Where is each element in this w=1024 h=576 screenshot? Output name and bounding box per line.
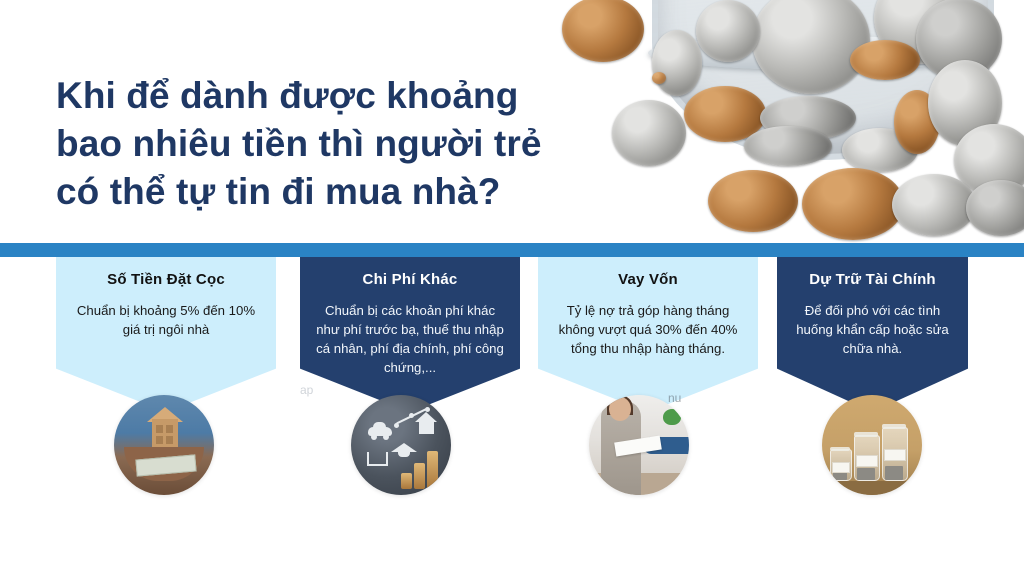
coin: [696, 0, 760, 62]
card-description: Để đối phó với các tình huống khẩn cấp h…: [791, 301, 954, 358]
coin: [562, 0, 644, 62]
coin: [966, 180, 1024, 236]
coin: [612, 100, 686, 166]
coin: [652, 30, 702, 96]
card-so-tien-dat-coc[interactable]: Số Tiền Đặt Cọc Chuẩn bị khoảng 5% đến 1…: [56, 257, 276, 412]
coin: [892, 174, 976, 236]
coin: [802, 168, 904, 240]
card-title: Số Tiền Đặt Cọc: [70, 271, 262, 288]
card-title: Dự Trữ Tài Chính: [791, 271, 954, 288]
card-description: Tỷ lệ nợ trả góp hàng tháng không vượt q…: [552, 301, 744, 358]
card-image-reserve: [822, 395, 922, 495]
section-divider: [0, 243, 1024, 257]
card-title: Vay Vốn: [552, 271, 744, 288]
card-vay-von[interactable]: Vay Vốn Tỷ lệ nợ trả góp hàng tháng khôn…: [538, 257, 758, 412]
infographic-canvas: Khi để dành được khoảng bao nhiêu tiền t…: [0, 0, 1024, 576]
card-description: Chuẩn bị các khoản phí khác như phí trướ…: [314, 301, 506, 377]
coin: [744, 126, 832, 166]
cards-row: Số Tiền Đặt Cọc Chuẩn bị khoảng 5% đến 1…: [0, 257, 1024, 557]
card-du-tru-tai-chinh[interactable]: Dự Trữ Tài Chính Để đối phó với các tình…: [777, 257, 968, 412]
card-description: Chuẩn bị khoảng 5% đến 10% giá trị ngôi …: [70, 301, 262, 339]
page-title: Khi để dành được khoảng bao nhiêu tiền t…: [56, 72, 616, 216]
card-image-loan: [589, 395, 689, 495]
coin: [708, 170, 798, 232]
card-title: Chi Phí Khác: [314, 271, 506, 288]
card-image-other-costs: [351, 395, 451, 495]
coin: [652, 72, 666, 84]
card-image-deposit: [114, 395, 214, 495]
coins-hero-image: [556, 0, 1024, 246]
card-chi-phi-khac[interactable]: Chi Phí Khác Chuẩn bị các khoản phí khác…: [300, 257, 520, 412]
coin: [850, 40, 920, 80]
watermark-text: ap: [300, 383, 313, 397]
